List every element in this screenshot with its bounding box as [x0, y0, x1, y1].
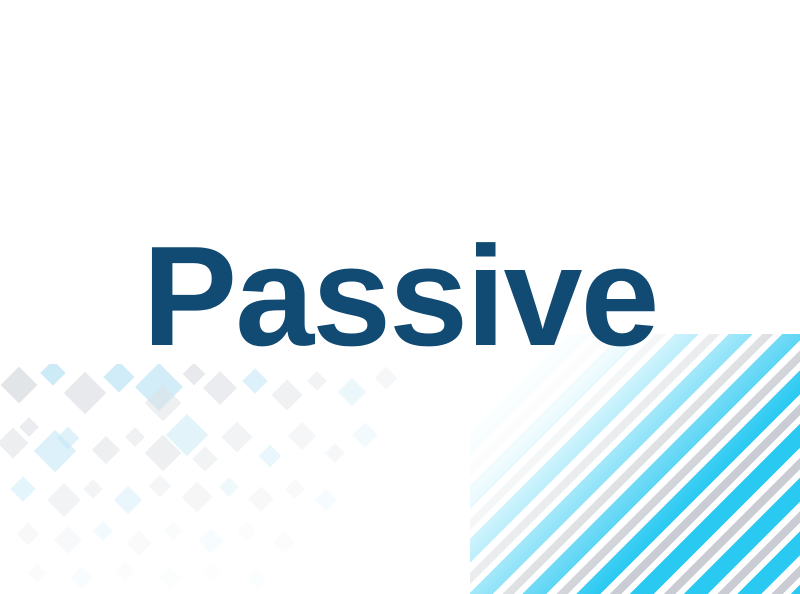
diamond-shape: [288, 422, 316, 450]
diamond-shape: [93, 521, 113, 541]
diamond-shape: [325, 443, 345, 463]
diamond-shape: [237, 521, 257, 541]
diamond-shape: [248, 486, 273, 511]
diamond-shape: [83, 479, 103, 499]
diamond-shape: [27, 563, 47, 583]
diamond-shape: [114, 486, 142, 514]
poster-canvas: Passive: [0, 0, 800, 594]
diamond-shape: [0, 427, 29, 458]
diamond-shape: [221, 421, 252, 452]
diamond-shape: [247, 569, 267, 589]
diamond-shape: [145, 435, 182, 472]
diamond-shape: [352, 422, 377, 447]
diamond-shape: [47, 483, 81, 517]
page-title: Passive: [0, 226, 800, 368]
diamond-shape: [115, 561, 135, 581]
diamond-shape: [1, 367, 38, 404]
diamond-shape: [149, 475, 172, 498]
diamond-shape: [203, 371, 237, 405]
diamond-shape: [64, 372, 106, 414]
diamond-shape: [203, 561, 223, 581]
diamond-shape: [198, 528, 223, 553]
diamond-shape: [181, 481, 212, 512]
diamond-shape: [92, 436, 120, 464]
diamond-shape: [219, 477, 239, 497]
diamond-shape: [17, 523, 40, 546]
diamond-shape: [273, 531, 296, 554]
diamond-shape: [34, 430, 76, 472]
diamond-shape: [71, 567, 94, 590]
diamond-shape: [315, 489, 338, 512]
diamond-shape: [54, 526, 82, 554]
diamond-mosaic: [0, 364, 460, 594]
diamond-shape: [159, 567, 182, 590]
diamond-shape: [271, 379, 302, 410]
diamond-shape: [125, 427, 145, 447]
diamond-shape: [57, 427, 80, 450]
diamond-shape: [285, 479, 305, 499]
diamond-shape: [145, 385, 182, 422]
diamond-shape: [10, 476, 35, 501]
diamond-shape: [192, 446, 217, 471]
diamond-shape: [259, 445, 282, 468]
diamond-shape: [19, 417, 39, 437]
diamond-shape: [103, 364, 134, 393]
diamond-shape: [166, 414, 208, 456]
diamond-shape: [126, 530, 151, 555]
diamond-shape: [338, 378, 366, 406]
diamond-shape: [163, 521, 183, 541]
